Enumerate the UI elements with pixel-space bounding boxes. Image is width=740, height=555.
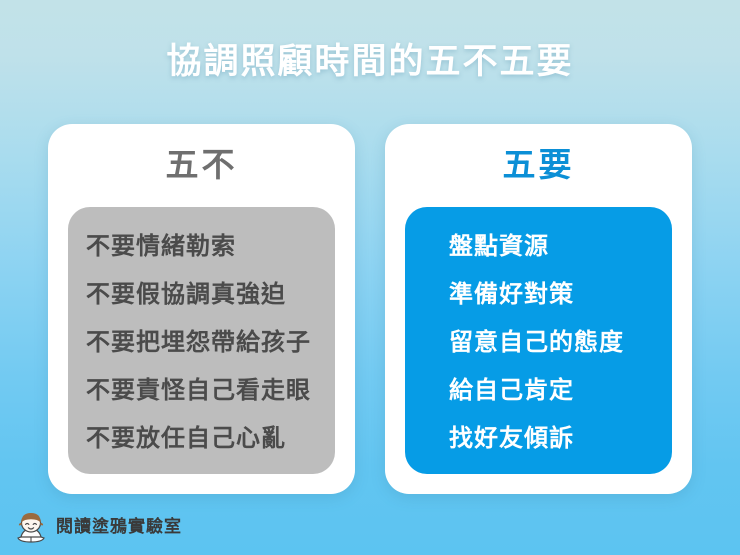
footer-logo: 閱讀塗鴉實驗室 [12,505,182,549]
card-five-dos-panel: 盤點資源 準備好對策 留意自己的態度 給自己肯定 找好友傾訴 [405,207,672,474]
card-five-donts-header: 五不 [48,143,355,187]
card-five-donts-panel: 不要情緒勒索 不要假協調真強迫 不要把埋怨帶給孩子 不要責怪自己看走眼 不要放任… [68,207,335,474]
card-five-dos: 五要 盤點資源 準備好對策 留意自己的態度 給自己肯定 找好友傾訴 [385,124,692,494]
slide-canvas: 協調照顧時間的五不五要 五不 不要情緒勒索 不要假協調真強迫 不要把埋怨帶給孩子… [0,0,740,555]
five-donts-list: 不要情緒勒索 不要假協調真強迫 不要把埋怨帶給孩子 不要責怪自己看走眼 不要放任… [68,223,335,463]
list-item: 不要放任自己心亂 [68,415,335,463]
reading-person-icon [12,508,50,546]
card-five-donts: 五不 不要情緒勒索 不要假協調真強迫 不要把埋怨帶給孩子 不要責怪自己看走眼 不… [48,124,355,494]
list-item: 不要情緒勒索 [68,223,335,271]
list-item: 留意自己的態度 [405,319,672,367]
list-item: 不要責怪自己看走眼 [68,367,335,415]
list-item: 給自己肯定 [405,367,672,415]
list-item: 不要把埋怨帶給孩子 [68,319,335,367]
list-item: 不要假協調真強迫 [68,271,335,319]
logo-text: 閱讀塗鴉實驗室 [56,517,182,537]
list-item: 準備好對策 [405,271,672,319]
list-item: 找好友傾訴 [405,415,672,463]
five-dos-list: 盤點資源 準備好對策 留意自己的態度 給自己肯定 找好友傾訴 [405,223,672,463]
card-five-dos-header: 五要 [385,143,692,187]
cards-container: 五不 不要情緒勒索 不要假協調真強迫 不要把埋怨帶給孩子 不要責怪自己看走眼 不… [48,124,692,494]
list-item: 盤點資源 [405,223,672,271]
page-title: 協調照顧時間的五不五要 [0,40,740,84]
